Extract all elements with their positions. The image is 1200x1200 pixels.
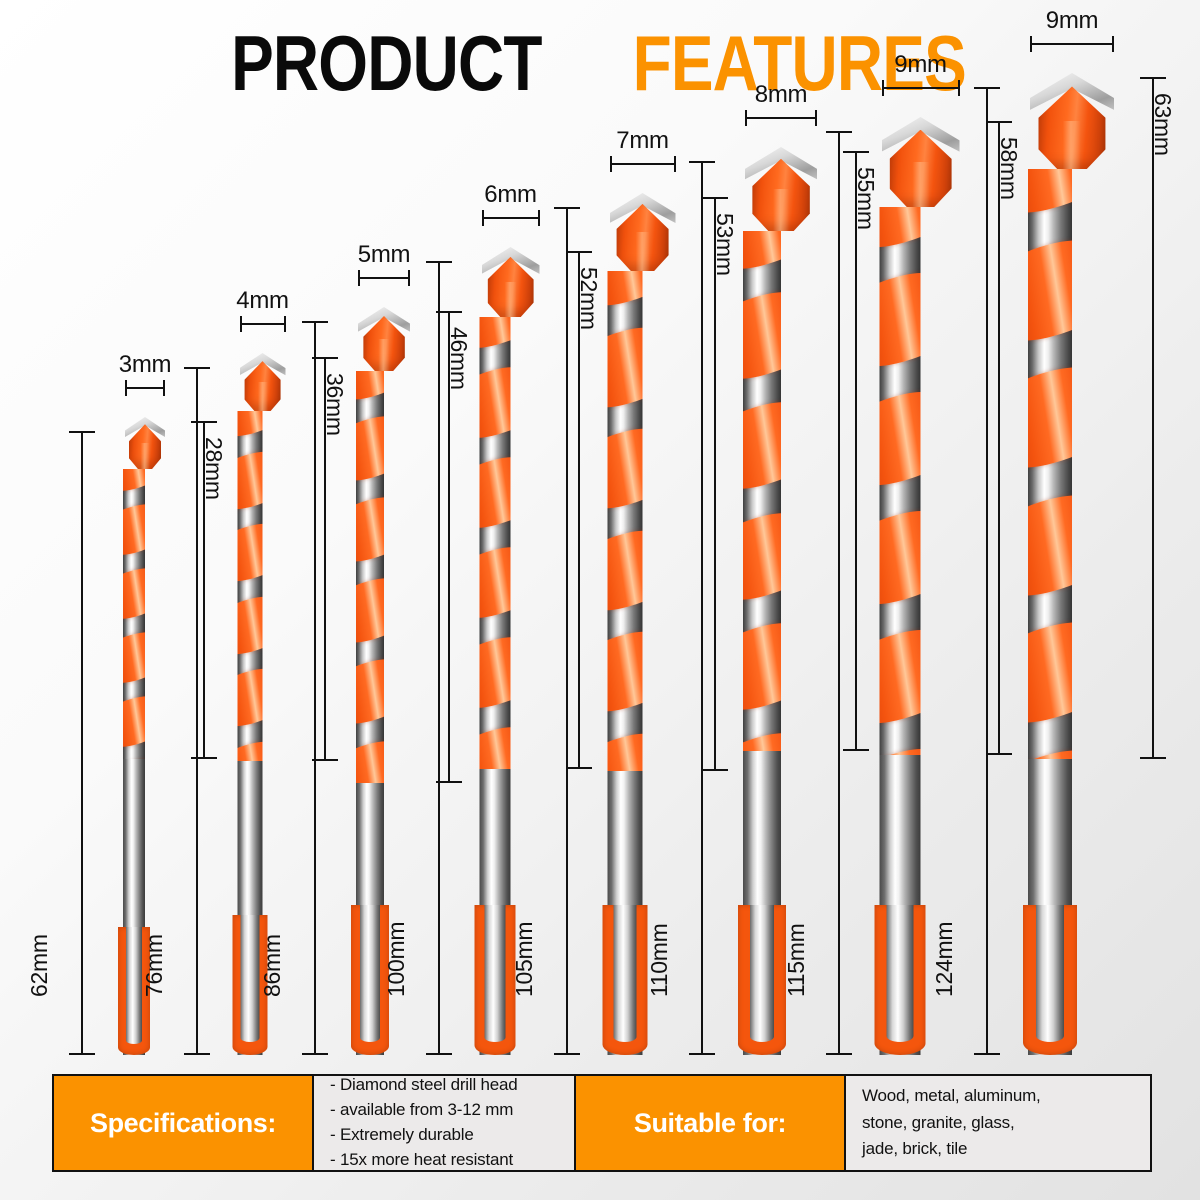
diameter-label: 9mm [894,51,946,79]
drill-bit-diagram: 3mm28mm62mm4mm36mm76mm5mm46mm86mm6mm52mm… [0,110,1200,1055]
tip-highlight [1063,121,1081,169]
specifications-value-cell: - Diamond steel drill head - available f… [312,1076,574,1170]
diameter-dimension-line [882,87,960,89]
total-length-dimension-line [986,87,988,1055]
info-panel: Specifications: - Diamond steel drill he… [52,1074,1152,1172]
flute-dimension-line [1152,77,1154,759]
diameter-end-tick [1112,36,1114,52]
carbide-tip [1030,73,1114,169]
spec-item: - Extremely durable [330,1123,518,1148]
diameter-end-tick [958,80,960,96]
flute-end-tick [1140,757,1166,759]
suitable-list: Wood, metal, aluminum, stone, granite, g… [862,1083,1041,1164]
flute-end-tick [1140,77,1166,79]
total-length-end-tick [974,1053,1000,1055]
suitable-line: Wood, metal, aluminum, [862,1083,1041,1110]
suitable-label-cell: Suitable for: [574,1076,844,1170]
specifications-list: - Diamond steel drill head - available f… [330,1073,518,1173]
specifications-label-cell: Specifications: [54,1076,312,1170]
total-length-label: 124mm [931,922,958,997]
diameter-label: 9mm [1046,7,1098,35]
flute-helix [1028,169,1072,759]
spec-item: - available from 3-12 mm [330,1098,518,1123]
spec-item: - Diamond steel drill head [330,1073,518,1098]
diameter-end-tick [1030,36,1032,52]
suitable-label: Suitable for: [634,1108,786,1139]
page-title: PRODUCT FEATURES [0,18,1200,109]
title-word-product: PRODUCT [231,18,542,109]
diameter-end-tick [882,80,884,96]
shank-end-cap [1023,905,1077,1055]
diameter-dimension-line [1030,43,1114,45]
suitable-line: stone, granite, glass, [862,1110,1041,1137]
suitable-value-cell: Wood, metal, aluminum, stone, granite, g… [844,1076,1146,1170]
spec-item: - 15x more heat resistant [330,1148,518,1173]
total-length-end-tick [974,87,1000,89]
drill-flute [1028,169,1072,759]
drill-bit-8: 9mm63mm124mm [0,110,1200,1055]
diameter-label: 8mm [755,81,807,109]
flute-length-label: 63mm [1149,93,1176,156]
suitable-line: jade, brick, tile [862,1136,1041,1163]
specifications-label: Specifications: [90,1108,276,1139]
